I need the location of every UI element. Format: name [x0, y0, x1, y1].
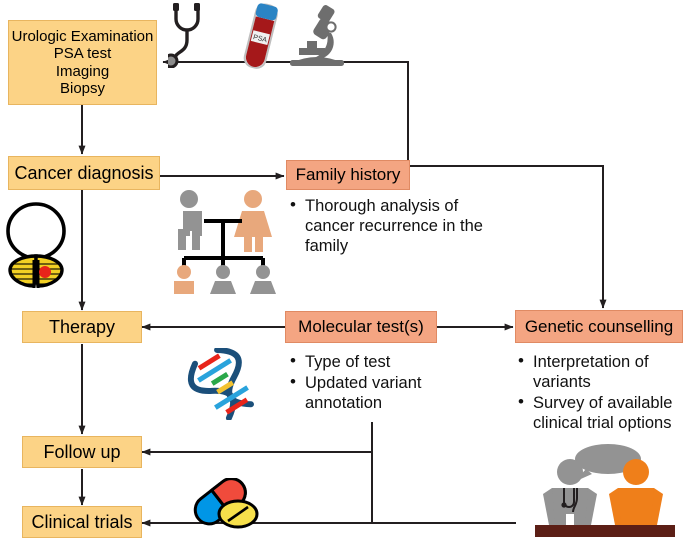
pills-icon: [186, 478, 266, 534]
clinical-trials-label: Clinical trials: [31, 512, 132, 533]
genetic-counselling-bullets: Interpretation of variants Survey of ava…: [516, 352, 685, 435]
pedigree-child-3: [250, 265, 276, 294]
node-urologic-examination[interactable]: Urologic Examination PSA test Imaging Bi…: [8, 20, 157, 105]
edge-family-history-to-urologic: [163, 62, 408, 170]
node-molecular-tests[interactable]: Molecular test(s): [285, 311, 437, 343]
node-follow-up[interactable]: Follow up: [22, 436, 142, 468]
node-clinical-trials[interactable]: Clinical trials: [22, 506, 142, 538]
family-history-bullets: Thorough analysis of cancer recurrence i…: [288, 196, 483, 257]
pedigree-father: [176, 190, 202, 250]
edge-molecular-tests-to-follow-up: [142, 422, 372, 452]
cancer-diagnosis-label: Cancer diagnosis: [14, 163, 153, 184]
blood-test-tube-icon: PSA: [240, 2, 280, 72]
therapy-label: Therapy: [49, 317, 115, 338]
urologic-line-2: PSA test: [9, 45, 156, 62]
list-item: Type of test: [288, 352, 448, 372]
list-item: Updated variant annotation: [288, 373, 448, 413]
urologic-line-1: Urologic Examination: [9, 28, 156, 45]
dna-helix-icon: [184, 348, 262, 420]
genetic-counselling-label: Genetic counselling: [525, 317, 673, 337]
node-therapy[interactable]: Therapy: [22, 311, 142, 343]
list-item: Interpretation of variants: [516, 352, 685, 392]
follow-up-label: Follow up: [43, 442, 120, 463]
family-history-label: Family history: [296, 165, 401, 185]
stethoscope-icon: [168, 2, 232, 68]
node-genetic-counselling[interactable]: Genetic counselling: [515, 310, 683, 343]
consult-table: [535, 525, 675, 537]
pedigree-child-2: [210, 265, 236, 294]
list-item: Survey of available clinical trial optio…: [516, 393, 685, 433]
family-tree-icon: [168, 188, 284, 294]
pedigree-child-1: [174, 265, 194, 294]
urologic-line-4: Biopsy: [9, 80, 156, 97]
workflow-diagram: PSA: [0, 0, 685, 542]
node-family-history[interactable]: Family history: [286, 160, 410, 190]
list-item: Thorough analysis of cancer recurrence i…: [288, 196, 483, 256]
node-cancer-diagnosis[interactable]: Cancer diagnosis: [8, 156, 160, 190]
microscope-icon: [287, 5, 349, 67]
doctor-patient-consult-icon: [530, 444, 680, 540]
molecular-tests-label: Molecular test(s): [298, 317, 424, 337]
prostate-bladder-icon: [4, 198, 68, 290]
urologic-line-3: Imaging: [9, 63, 156, 80]
molecular-tests-bullets: Type of test Updated variant annotation: [288, 352, 448, 414]
